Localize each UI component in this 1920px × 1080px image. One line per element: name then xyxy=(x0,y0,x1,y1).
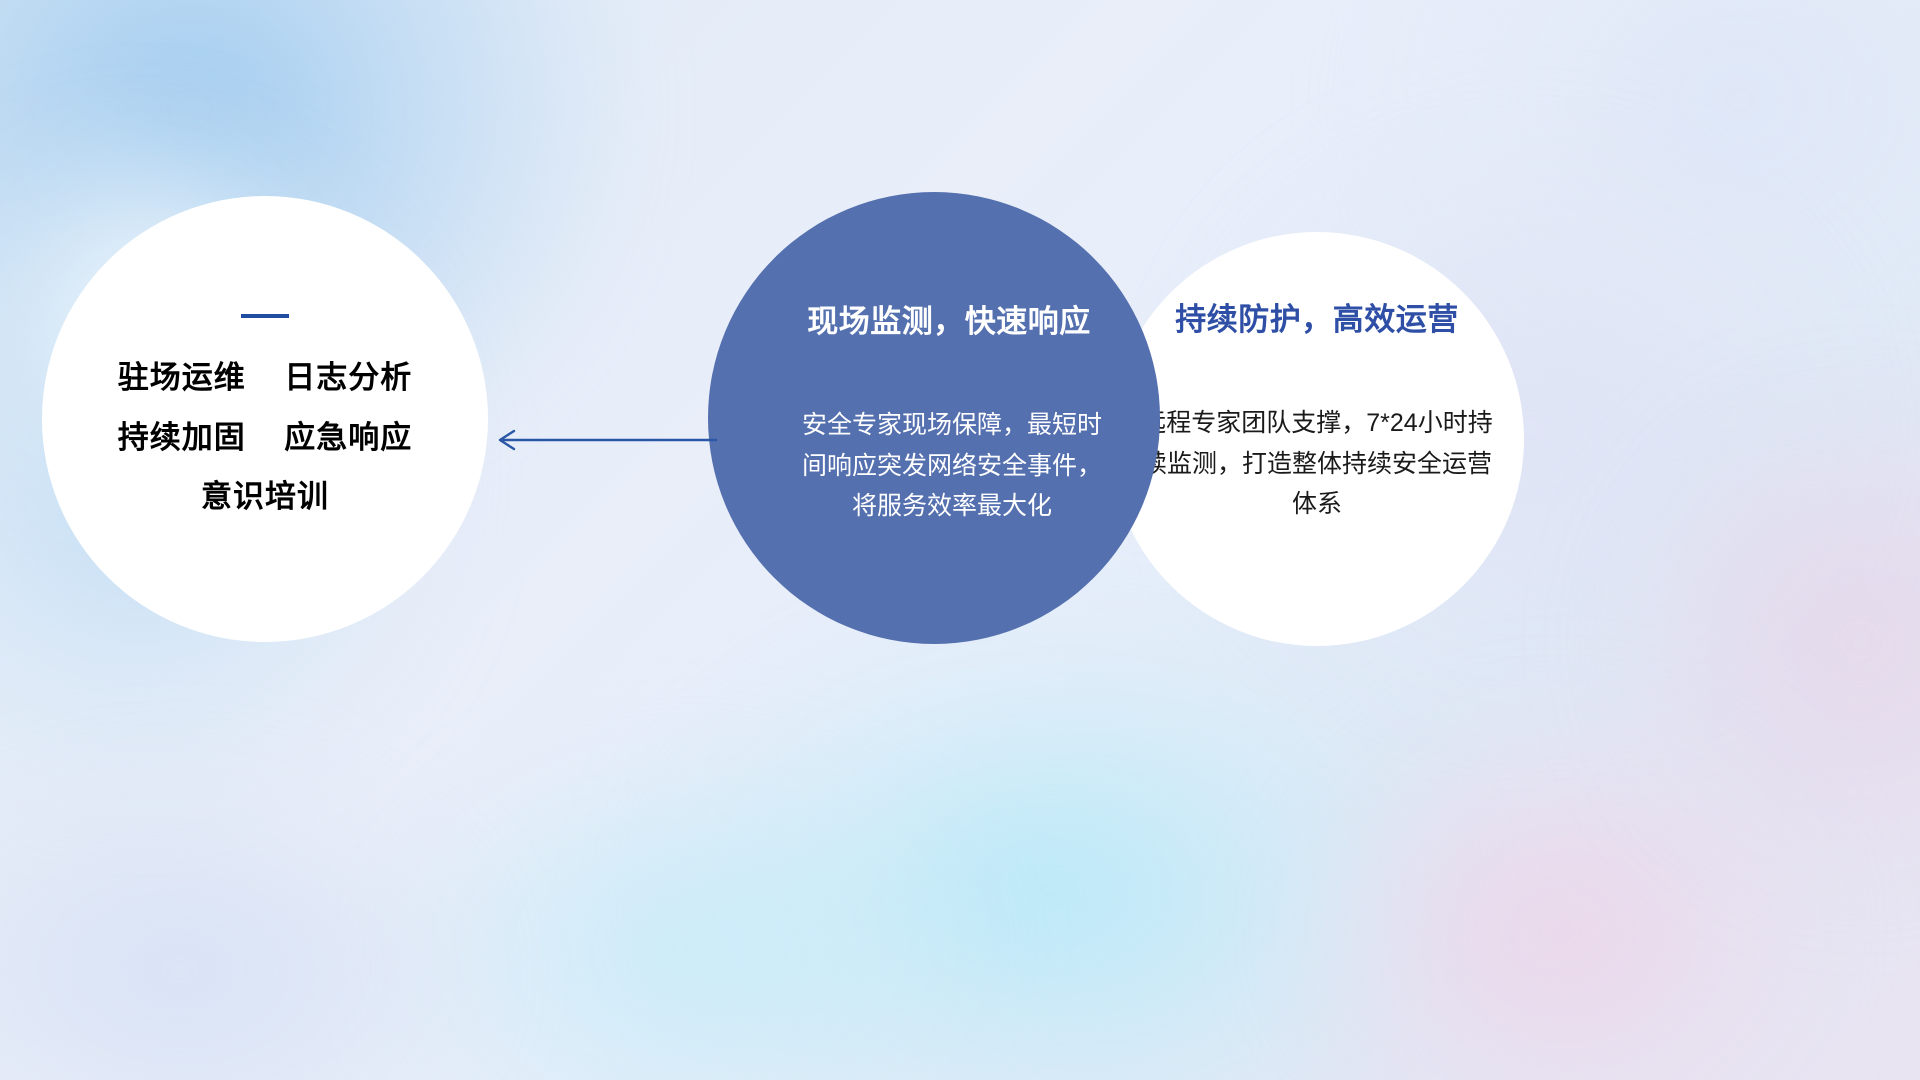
right-service-circle[interactable]: 持续防护，高效运营 远程专家团队支撑，7*24小时持续监测，打造整体持续安全运营… xyxy=(1110,232,1524,646)
center-service-circle[interactable]: 现场监测，快速响应 安全专家现场保障，最短时间响应突发网络安全事件，将服务效率最… xyxy=(708,192,1160,644)
left-service-circle[interactable]: 驻场运维 日志分析 持续加固 应急响应 意识培训 xyxy=(42,196,488,642)
center-circle-content: 现场监测，快速响应 安全专家现场保障，最短时间响应突发网络安全事件，将服务效率最… xyxy=(708,192,1160,644)
left-circle-line-3: 意识培训 xyxy=(201,481,329,514)
slide-canvas: 驻场运维 日志分析 持续加固 应急响应 意识培训 持续防护，高效运营 远程专家团… xyxy=(0,0,1920,1080)
right-circle-content: 持续防护，高效运营 远程专家团队支撑，7*24小时持续监测，打造整体持续安全运营… xyxy=(1110,232,1524,646)
arrow-left-icon xyxy=(488,416,718,464)
right-circle-body: 远程专家团队支撑，7*24小时持续监测，打造整体持续安全运营体系 xyxy=(1141,403,1493,525)
left-circle-content: 驻场运维 日志分析 持续加固 应急响应 意识培训 xyxy=(42,196,488,642)
right-circle-heading: 持续防护，高效运营 xyxy=(1175,294,1459,339)
background-glow-pink xyxy=(1280,700,1840,1080)
left-circle-line-1: 驻场运维 日志分析 xyxy=(118,362,412,395)
background-glow-pink-2 xyxy=(1600,380,1920,900)
left-circle-line-2: 持续加固 应急响应 xyxy=(118,422,412,455)
background-glow-bottom-left xyxy=(0,760,500,1080)
divider-line xyxy=(241,314,289,318)
background-glow-cyan-2 xyxy=(380,740,1000,1080)
center-circle-heading: 现场监测，快速响应 xyxy=(807,296,1091,341)
background-glow-cyan xyxy=(640,620,1460,1080)
center-circle-body: 安全专家现场保障，最短时间响应突发网络安全事件，将服务效率最大化 xyxy=(793,405,1111,527)
